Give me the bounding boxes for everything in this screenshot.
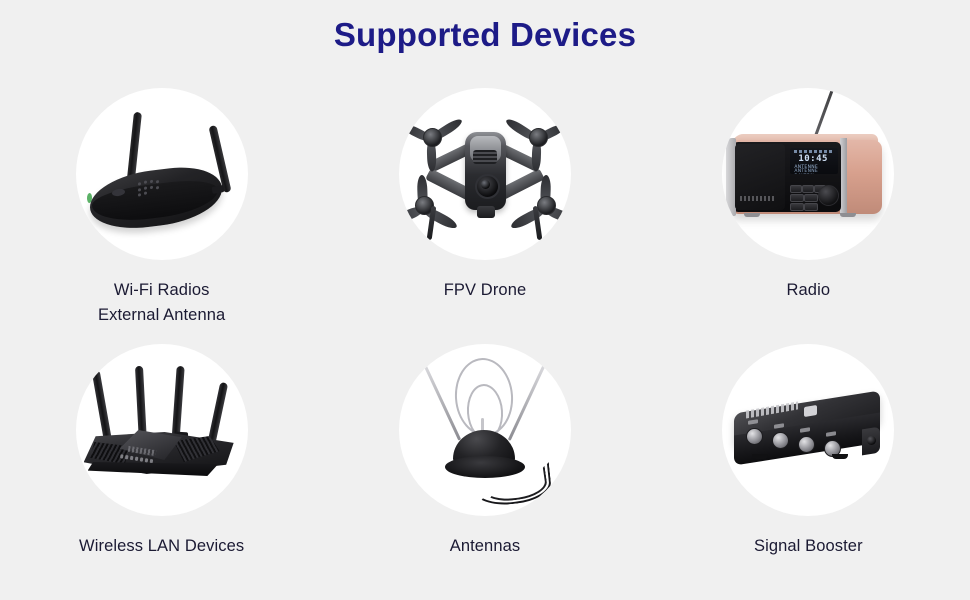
- drone-battery-pack: [477, 206, 495, 218]
- radio-brand-logo: [740, 196, 774, 201]
- supported-devices-panel: Supported Devices: [0, 0, 970, 600]
- device-card-antennas: Antennas: [323, 344, 646, 600]
- label-line-1: Wi-Fi Radios: [114, 281, 210, 299]
- radio-mode-button[interactable]: [804, 194, 818, 202]
- radio-lcd-display: 10:45 ANTENNE ANTENNE BAYERN: [790, 148, 838, 174]
- lcd-indicator-row: [794, 150, 834, 153]
- device-card-signal-booster: Signal Booster: [647, 344, 970, 600]
- router-logo-dots: [138, 178, 164, 196]
- page-title: Supported Devices: [0, 16, 970, 54]
- drone-vent-grille: [473, 150, 497, 164]
- lcd-time-readout: 10:45: [798, 154, 828, 164]
- label-line-1: Radio: [787, 281, 831, 299]
- label-line-1: Wireless LAN Devices: [79, 537, 244, 555]
- radio-foot: [744, 213, 760, 217]
- label-line-2: External Antenna: [98, 303, 225, 328]
- device-label-signal-booster: Signal Booster: [754, 534, 863, 559]
- lan-router-base: [88, 462, 224, 476]
- radio-preset-button[interactable]: [790, 185, 802, 193]
- antenna-telescopic-rod-right: [508, 365, 545, 440]
- router-antenna-hinge: [211, 185, 224, 194]
- lan-router-antenna-1: [91, 370, 112, 444]
- lcd-station-line-2: ANTENNE BAYERN: [794, 169, 838, 174]
- device-image-wireless-lan-router: [76, 344, 248, 516]
- device-label-radio: Radio: [787, 278, 831, 303]
- drone-camera-lens: [481, 180, 490, 189]
- radio-preset-button[interactable]: [802, 185, 814, 193]
- radio-menu-button[interactable]: [790, 203, 804, 211]
- drone-motor-front-left: [423, 128, 442, 147]
- device-card-wireless-lan-devices: Wireless LAN Devices: [0, 344, 323, 600]
- drone-motor-rear-right: [537, 196, 556, 215]
- device-image-signal-booster: [722, 344, 894, 516]
- label-line-1: FPV Drone: [444, 281, 527, 299]
- radio-info-button[interactable]: [804, 203, 818, 211]
- label-line-1: Antennas: [450, 537, 521, 555]
- device-card-wifi-radios: Wi-Fi Radios External Antenna: [0, 88, 323, 344]
- device-image-radio: 10:45 ANTENNE ANTENNE BAYERN: [722, 88, 894, 260]
- device-label-fpv-drone: FPV Drone: [444, 278, 527, 303]
- radio-trim-right: [840, 138, 847, 216]
- device-label-wifi-radios: Wi-Fi Radios External Antenna: [98, 278, 225, 328]
- devices-grid: Wi-Fi Radios External Antenna: [0, 88, 970, 600]
- radio-preset-button[interactable]: [790, 194, 804, 202]
- router-status-led: [87, 193, 92, 204]
- drone-motor-front-right: [529, 128, 548, 147]
- device-image-fpv-drone: [399, 88, 571, 260]
- booster-foot: [752, 454, 768, 459]
- device-image-wifi-router: [76, 88, 248, 260]
- booster-foot: [832, 454, 848, 459]
- label-line-1: Signal Booster: [754, 537, 863, 555]
- device-image-antennas: [399, 344, 571, 516]
- radio-foot: [840, 213, 856, 217]
- device-card-fpv-drone: FPV Drone: [323, 88, 646, 344]
- device-label-antennas: Antennas: [450, 534, 521, 559]
- device-card-radio: 10:45 ANTENNE ANTENNE BAYERN: [647, 88, 970, 344]
- device-label-wireless-lan-devices: Wireless LAN Devices: [79, 534, 244, 559]
